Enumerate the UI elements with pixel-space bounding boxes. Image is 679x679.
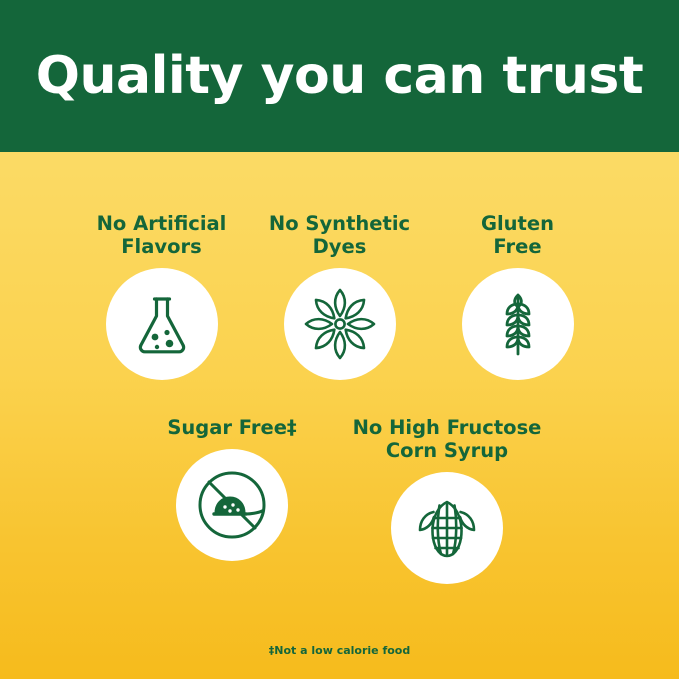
- badge-gluten-free: Gluten Free: [429, 212, 607, 380]
- dye-splash-icon: [300, 284, 380, 364]
- badge-sugar-free: Sugar Free‡: [125, 416, 340, 584]
- badge-no-artificial-flavors: No Artificial Flavors: [73, 212, 251, 380]
- badge-no-high-fructose-corn-syrup: No High Fructose Corn Syrup: [340, 416, 555, 584]
- badge-label: No Synthetic Dyes: [269, 212, 410, 258]
- badge-icon-container: [106, 268, 218, 380]
- quality-claims-panel: Quality you can trust No Artificial Flav…: [0, 0, 679, 679]
- footnote-text: ‡Not a low calorie food: [0, 644, 679, 657]
- badge-row-secondary: Sugar Free‡: [0, 416, 679, 584]
- flask-icon: [125, 287, 199, 361]
- badge-icon-container: [391, 472, 503, 584]
- badge-row-primary: No Artificial Flavors No Synt: [0, 212, 679, 380]
- badge-icon-container: [284, 268, 396, 380]
- page-title: Quality you can trust: [36, 50, 643, 102]
- badge-label: Sugar Free‡: [167, 416, 296, 439]
- badge-label: Gluten Free: [481, 212, 554, 258]
- badge-label: No Artificial Flavors: [97, 212, 227, 258]
- badge-icon-container: [462, 268, 574, 380]
- badge-icon-container: [176, 449, 288, 561]
- badge-label: No High Fructose Corn Syrup: [353, 416, 542, 462]
- badge-no-synthetic-dyes: No Synthetic Dyes: [251, 212, 429, 380]
- corn-cob-icon: [407, 488, 487, 568]
- no-sugar-spoon-icon: [188, 461, 276, 549]
- header-banner: Quality you can trust: [0, 0, 679, 152]
- wheat-icon: [478, 284, 558, 364]
